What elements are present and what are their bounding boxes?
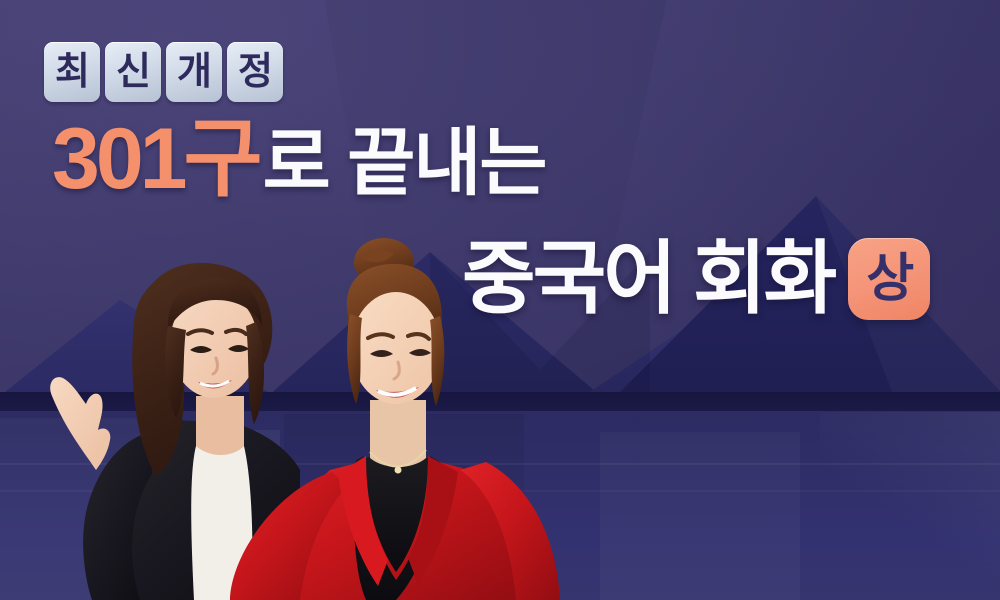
badge-tile-2: 신 <box>105 42 161 102</box>
presenter-right-hair-side-left <box>347 314 362 404</box>
headline-line-2-row: 중국어 회화 상 <box>462 238 930 320</box>
presenter-right-face <box>351 292 441 404</box>
badge-tile-4: 정 <box>227 42 283 102</box>
course-cover-banner: 최 신 개 정 301구로 끝내는 중국어 회화 상 <box>0 0 1000 600</box>
badge-tile-3: 개 <box>166 42 222 102</box>
headline-highlight-301gu: 301구 <box>52 111 259 207</box>
presenter-right-hair-side-right <box>430 316 444 406</box>
presenter-right-necklace-pendant <box>395 467 402 474</box>
presenter-left-neck <box>196 396 244 455</box>
volume-badge[interactable]: 상 <box>848 238 930 320</box>
headline-line-2: 중국어 회화 <box>462 239 834 319</box>
headline-line-1: 301구로 끝내는 <box>52 116 546 202</box>
headline-line-1-rest: 로 끝내는 <box>263 121 546 204</box>
newest-revision-badge[interactable]: 최 신 개 정 <box>44 42 283 102</box>
presenter-left-hand <box>50 377 110 470</box>
badge-tile-1: 최 <box>44 42 100 102</box>
